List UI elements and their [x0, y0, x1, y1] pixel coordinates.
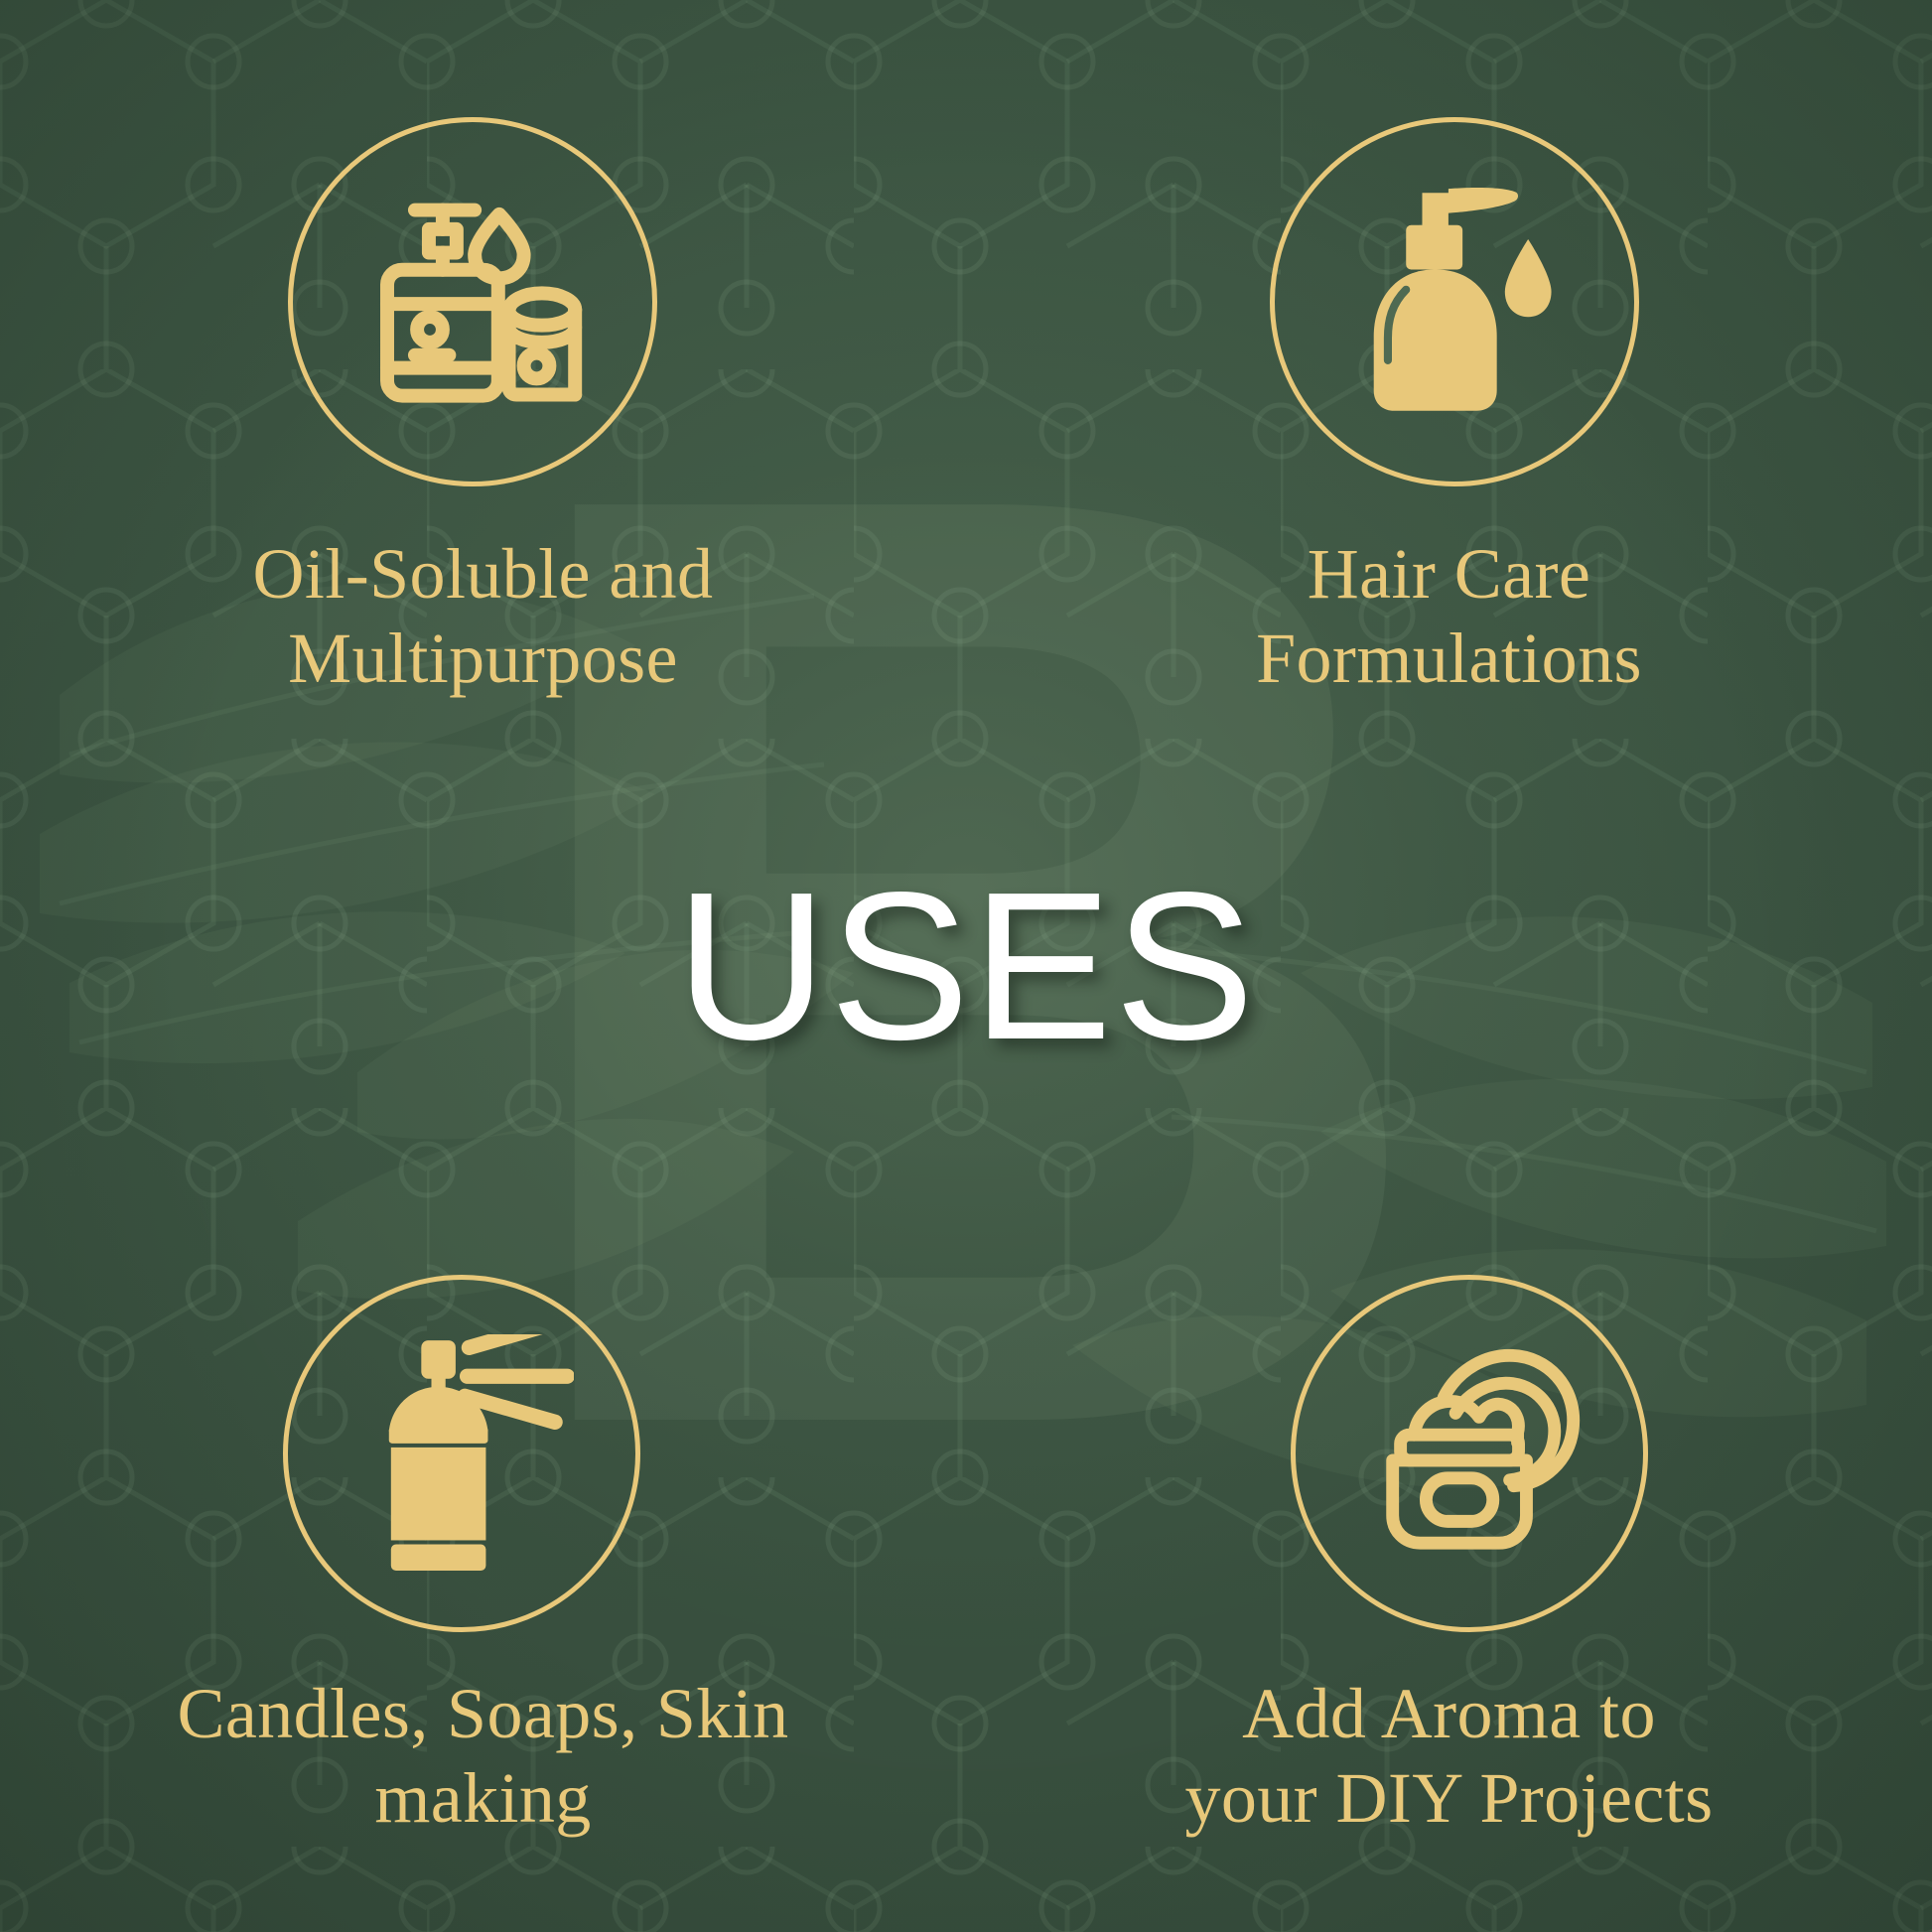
label-line-1: Hair Care: [1308, 534, 1590, 614]
label-line-2: making: [374, 1758, 591, 1838]
pump-bottle-and-jar-icon: [288, 117, 657, 486]
label-line-1: Add Aroma to: [1242, 1674, 1656, 1753]
quadrant-label-hair-care: Hair Care Formulations: [1102, 532, 1797, 701]
quadrant-hair-care: Hair Care Formulations: [966, 0, 1932, 966]
quadrant-oil-soluble: Oil-Soluble and Multipurpose: [0, 0, 966, 966]
shampoo-pump-bottle-icon: [1270, 117, 1639, 486]
uses-infographic: B: [0, 0, 1932, 1932]
cream-jar-icon: [1291, 1275, 1648, 1632]
label-line-2: your DIY Projects: [1184, 1758, 1713, 1838]
quadrant-label-diy-aroma: Add Aroma to your DIY Projects: [1042, 1672, 1857, 1841]
label-line-1: Candles, Soaps, Skin: [177, 1674, 788, 1753]
label-line-1: Oil-Soluble and: [253, 534, 714, 614]
spray-can-icon: [283, 1275, 640, 1632]
label-line-2: Multipurpose: [288, 619, 678, 698]
quadrant-diy-aroma: Add Aroma to your DIY Projects: [966, 966, 1932, 1932]
quadrant-label-oil-soluble: Oil-Soluble and Multipurpose: [136, 532, 831, 701]
quadrant-candles-soaps: Candles, Soaps, Skin making: [0, 966, 966, 1932]
quadrant-label-candles-soaps: Candles, Soaps, Skin making: [47, 1672, 920, 1841]
quadrant-grid: Oil-Soluble and Multipurpose: [0, 0, 1932, 1932]
label-line-2: Formulations: [1256, 619, 1642, 698]
